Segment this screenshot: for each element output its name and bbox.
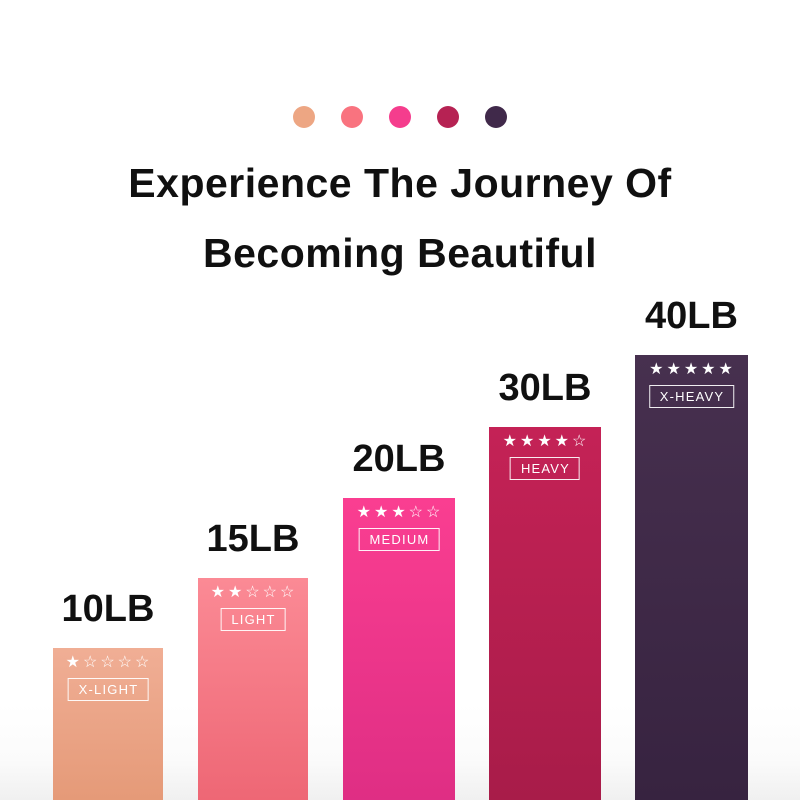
tier-badge: ★★★★★X-HEAVY <box>649 362 735 408</box>
bar-group-40lb[interactable]: 40LB★★★★★X-HEAVY <box>635 295 748 800</box>
star-filled-icon: ★ <box>537 434 552 450</box>
star-empty-icon: ☆ <box>572 434 587 450</box>
star-empty-icon: ☆ <box>426 505 441 521</box>
bar-group-10lb[interactable]: 10LB★☆☆☆☆X-LIGHT <box>53 588 163 800</box>
star-filled-icon: ★ <box>555 434 570 450</box>
tier-badge: ★☆☆☆☆X-LIGHT <box>66 655 151 701</box>
bar-value-label: 10LB <box>62 588 155 631</box>
bar-value-label: 40LB <box>645 295 738 338</box>
star-filled-icon: ★ <box>684 362 699 378</box>
tier-badge: ★★★☆☆MEDIUM <box>357 505 442 551</box>
star-empty-icon: ☆ <box>409 505 424 521</box>
tier-label: LIGHT <box>220 608 285 631</box>
star-filled-icon: ★ <box>719 362 734 378</box>
bar-column[interactable] <box>489 427 601 800</box>
resistance-band-bar-chart: 10LB★☆☆☆☆X-LIGHT15LB★★☆☆☆LIGHT20LB★★★☆☆M… <box>0 0 800 800</box>
star-filled-icon: ★ <box>391 505 406 521</box>
star-filled-icon: ★ <box>520 434 535 450</box>
star-filled-icon: ★ <box>66 655 81 671</box>
star-filled-icon: ★ <box>701 362 716 378</box>
star-rating: ★★★★☆ <box>503 434 588 450</box>
star-rating: ★★★★★ <box>649 362 734 378</box>
tier-label: X-HEAVY <box>649 385 735 408</box>
tier-badge: ★★★★☆HEAVY <box>503 434 588 480</box>
star-empty-icon: ☆ <box>280 585 295 601</box>
bar-value-label: 30LB <box>499 367 592 410</box>
star-rating: ★★☆☆☆ <box>211 585 296 601</box>
bar-column[interactable] <box>635 355 748 800</box>
star-empty-icon: ☆ <box>263 585 278 601</box>
tier-badge: ★★☆☆☆LIGHT <box>211 585 296 631</box>
tier-label: X-LIGHT <box>68 678 149 701</box>
star-filled-icon: ★ <box>374 505 389 521</box>
tier-label: MEDIUM <box>359 528 440 551</box>
star-filled-icon: ★ <box>649 362 664 378</box>
bar-value-label: 20LB <box>353 438 446 481</box>
tier-label: HEAVY <box>510 457 580 480</box>
star-empty-icon: ☆ <box>245 585 260 601</box>
poster-canvas: Experience The Journey Of Becoming Beaut… <box>0 0 800 800</box>
bar-group-30lb[interactable]: 30LB★★★★☆HEAVY <box>489 367 601 800</box>
bar-value-label: 15LB <box>207 518 300 561</box>
star-empty-icon: ☆ <box>100 655 115 671</box>
bar-group-20lb[interactable]: 20LB★★★☆☆MEDIUM <box>343 438 455 800</box>
star-filled-icon: ★ <box>503 434 518 450</box>
bar-group-15lb[interactable]: 15LB★★☆☆☆LIGHT <box>198 518 308 800</box>
star-filled-icon: ★ <box>211 585 226 601</box>
star-filled-icon: ★ <box>357 505 372 521</box>
star-filled-icon: ★ <box>228 585 243 601</box>
star-empty-icon: ☆ <box>118 655 133 671</box>
star-filled-icon: ★ <box>666 362 681 378</box>
star-rating: ★☆☆☆☆ <box>66 655 151 671</box>
star-rating: ★★★☆☆ <box>357 505 442 521</box>
star-empty-icon: ☆ <box>83 655 98 671</box>
star-empty-icon: ☆ <box>135 655 150 671</box>
